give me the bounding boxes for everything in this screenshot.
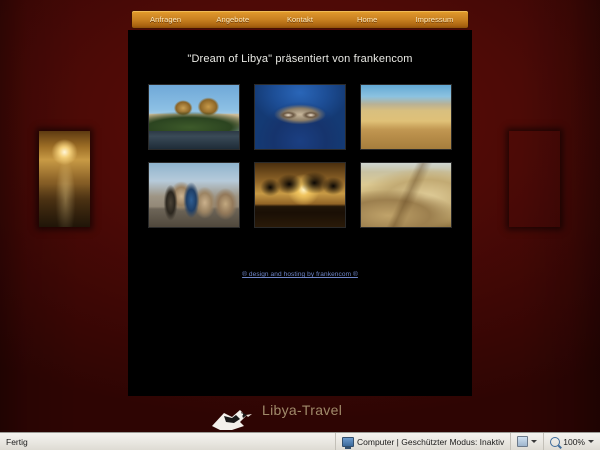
chevron-down-icon[interactable] — [531, 440, 537, 443]
browser-viewport: Anfragen Angebote Kontakt Home Impressum… — [0, 0, 600, 432]
photo-gallery — [148, 84, 452, 228]
desert-plain-image — [361, 85, 451, 149]
gallery-thumb-dunes[interactable] — [360, 162, 452, 228]
nav-item-impressum[interactable]: Impressum — [401, 15, 468, 25]
falcon-logo-icon — [210, 404, 256, 432]
gallery-thumb-mosque[interactable] — [148, 84, 240, 150]
security-zone-cell[interactable]: Computer | Geschützter Modus: Inaktiv — [335, 433, 510, 450]
palms-sunset-image — [255, 163, 345, 227]
content-panel: "Dream of Libya" präsentiert von franken… — [128, 30, 472, 396]
computer-icon — [342, 437, 354, 447]
status-bar: Fertig Computer | Geschützter Modus: Ina… — [0, 432, 600, 450]
sand-dunes-image — [361, 163, 451, 227]
shield-zone-icon — [517, 436, 528, 447]
gallery-thumb-tuareg[interactable] — [254, 84, 346, 150]
gallery-thumb-palms[interactable] — [254, 162, 346, 228]
credit-link[interactable]: ® design and hosting by frankencom ® — [128, 270, 472, 279]
security-zone-label: Computer | Geschützter Modus: Inaktiv — [357, 437, 504, 447]
side-photo-left — [39, 131, 90, 227]
magnifier-icon — [550, 437, 560, 447]
brand-title: Libya-Travel — [262, 401, 342, 419]
zoom-level-label: 100% — [563, 437, 585, 447]
nav-item-kontakt[interactable]: Kontakt — [266, 15, 333, 25]
page-title: "Dream of Libya" präsentiert von franken… — [128, 52, 472, 66]
gallery-thumb-desert[interactable] — [360, 84, 452, 150]
brand-strip: Libya-Travel — [0, 396, 600, 432]
zoom-chevron-down-icon[interactable] — [588, 440, 594, 443]
status-message: Fertig — [0, 437, 28, 447]
nav-item-home[interactable]: Home — [334, 15, 401, 25]
sunset-over-water-image — [39, 131, 90, 227]
mosque-image — [149, 85, 239, 149]
camels-image — [149, 163, 239, 227]
zoom-cell[interactable]: 100% — [543, 433, 600, 450]
zone-settings-cell[interactable] — [510, 433, 543, 450]
nav-item-anfragen[interactable]: Anfragen — [132, 15, 199, 25]
tuareg-portrait-image — [255, 85, 345, 149]
palm-silhouette-image — [509, 131, 560, 227]
main-navigation: Anfragen Angebote Kontakt Home Impressum — [132, 11, 468, 28]
side-photo-right — [509, 131, 560, 227]
nav-item-angebote[interactable]: Angebote — [199, 15, 266, 25]
gallery-thumb-camels[interactable] — [148, 162, 240, 228]
